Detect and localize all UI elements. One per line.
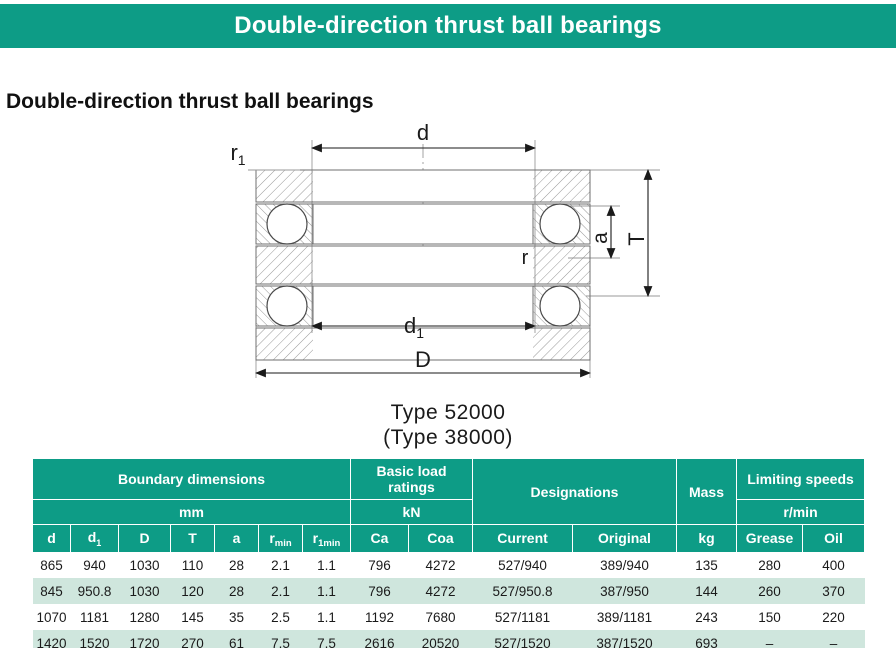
table-cell: 110 bbox=[171, 552, 215, 578]
table-cell: 135 bbox=[677, 552, 737, 578]
group-header-row: Boundary dimensions Basic load ratings D… bbox=[33, 459, 865, 500]
table-cell: 270 bbox=[171, 630, 215, 648]
group-header-limiting-speeds: Limiting speeds bbox=[737, 459, 865, 500]
spec-table-head: Boundary dimensions Basic load ratings D… bbox=[33, 459, 865, 553]
table-cell: 527/1520 bbox=[473, 630, 573, 648]
table-cell: 28 bbox=[215, 578, 259, 604]
spec-table-body: 8659401030110282.11.17964272527/940389/9… bbox=[33, 552, 865, 648]
unit-header-mm: mm bbox=[33, 500, 351, 525]
column-header-current: Current bbox=[473, 525, 573, 553]
column-header-grease: Grease bbox=[737, 525, 803, 553]
table-cell: 4272 bbox=[409, 552, 473, 578]
table-cell: 120 bbox=[171, 578, 215, 604]
table-cell: 1030 bbox=[119, 552, 171, 578]
table-cell: 150 bbox=[737, 604, 803, 630]
group-header-designations: Designations bbox=[473, 459, 677, 525]
table-cell: 260 bbox=[737, 578, 803, 604]
column-header-r-min: rmin bbox=[259, 525, 303, 553]
group-header-mass: Mass bbox=[677, 459, 737, 525]
diagram-caption: Type 52000 (Type 38000) bbox=[0, 400, 896, 450]
table-cell: 2.1 bbox=[259, 578, 303, 604]
table-cell: 389/940 bbox=[573, 552, 677, 578]
table-cell: 387/1520 bbox=[573, 630, 677, 648]
spec-table: Boundary dimensions Basic load ratings D… bbox=[32, 458, 865, 648]
table-cell: 1030 bbox=[119, 578, 171, 604]
label-r1: r1 bbox=[230, 140, 245, 168]
column-header-ca: Ca bbox=[351, 525, 409, 553]
unit-header-row: mm kN r/min bbox=[33, 500, 865, 525]
spec-table-wrapper: Boundary dimensions Basic load ratings D… bbox=[32, 458, 864, 648]
column-header-coa: Coa bbox=[409, 525, 473, 553]
table-cell: 693 bbox=[677, 630, 737, 648]
page-banner: Double-direction thrust ball bearings bbox=[0, 4, 896, 48]
table-cell: 527/1181 bbox=[473, 604, 573, 630]
table-cell: 220 bbox=[803, 604, 865, 630]
label-r: r bbox=[522, 247, 529, 269]
ball-row-lower bbox=[256, 286, 590, 326]
banner-title: Double-direction thrust ball bearings bbox=[234, 12, 661, 40]
bearing-diagram: d d1 D r r1 a T bbox=[0, 118, 896, 418]
table-cell: 845 bbox=[33, 578, 71, 604]
ball-row-upper bbox=[256, 204, 590, 244]
table-cell: 280 bbox=[737, 552, 803, 578]
table-cell: 389/1181 bbox=[573, 604, 677, 630]
column-header-kg: kg bbox=[677, 525, 737, 553]
table-row: 107011811280145352.51.111927680527/11813… bbox=[33, 604, 865, 630]
table-cell: 4272 bbox=[409, 578, 473, 604]
table-cell: 7680 bbox=[409, 604, 473, 630]
table-cell: 796 bbox=[351, 552, 409, 578]
table-cell: 1420 bbox=[33, 630, 71, 648]
column-header-d1: d1 bbox=[71, 525, 119, 553]
table-cell: 527/950.8 bbox=[473, 578, 573, 604]
column-header-d: d bbox=[33, 525, 71, 553]
table-cell: 7.5 bbox=[259, 630, 303, 648]
table-cell: 1520 bbox=[71, 630, 119, 648]
column-header-original: Original bbox=[573, 525, 677, 553]
table-cell: 61 bbox=[215, 630, 259, 648]
washer-centre bbox=[256, 246, 590, 284]
table-cell: 20520 bbox=[409, 630, 473, 648]
section-heading: Double-direction thrust ball bearings bbox=[6, 90, 374, 114]
column-header-r1-min: r1min bbox=[303, 525, 351, 553]
bearing-diagram-svg: d d1 D r r1 a T bbox=[0, 118, 896, 418]
table-cell: 865 bbox=[33, 552, 71, 578]
table-cell: 796 bbox=[351, 578, 409, 604]
table-cell: 145 bbox=[171, 604, 215, 630]
table-cell: 370 bbox=[803, 578, 865, 604]
unit-header-rpm: r/min bbox=[737, 500, 865, 525]
unit-header-kn: kN bbox=[351, 500, 473, 525]
table-cell: 1192 bbox=[351, 604, 409, 630]
table-cell: 28 bbox=[215, 552, 259, 578]
column-header-T: T bbox=[171, 525, 215, 553]
ball-upper-left bbox=[267, 204, 307, 244]
table-cell: 1.1 bbox=[303, 578, 351, 604]
ball-lower-right bbox=[540, 286, 580, 326]
table-cell: 1.1 bbox=[303, 552, 351, 578]
caption-line-1: Type 52000 bbox=[0, 400, 896, 425]
table-row: 845950.81030120282.11.17964272527/950.83… bbox=[33, 578, 865, 604]
caption-line-2: (Type 38000) bbox=[0, 425, 896, 450]
table-cell: 400 bbox=[803, 552, 865, 578]
column-header-D: D bbox=[119, 525, 171, 553]
table-cell: 1181 bbox=[71, 604, 119, 630]
table-cell: 940 bbox=[71, 552, 119, 578]
column-header-oil: Oil bbox=[803, 525, 865, 553]
table-cell: – bbox=[737, 630, 803, 648]
table-cell: 7.5 bbox=[303, 630, 351, 648]
table-cell: – bbox=[803, 630, 865, 648]
table-cell: 1720 bbox=[119, 630, 171, 648]
ball-upper-right bbox=[540, 204, 580, 244]
washer-top-outer bbox=[256, 170, 590, 202]
column-header-row: d d1 D T a rmin r1min Ca Coa Current Ori… bbox=[33, 525, 865, 553]
table-cell: 243 bbox=[677, 604, 737, 630]
table-cell: 2.5 bbox=[259, 604, 303, 630]
column-header-a: a bbox=[215, 525, 259, 553]
table-cell: 2616 bbox=[351, 630, 409, 648]
table-cell: 1.1 bbox=[303, 604, 351, 630]
table-cell: 1280 bbox=[119, 604, 171, 630]
table-cell: 527/940 bbox=[473, 552, 573, 578]
table-cell: 2.1 bbox=[259, 552, 303, 578]
table-cell: 35 bbox=[215, 604, 259, 630]
table-cell: 144 bbox=[677, 578, 737, 604]
table-row: 142015201720270617.57.5261620520527/1520… bbox=[33, 630, 865, 648]
page-root: Double-direction thrust ball bearings Do… bbox=[0, 0, 896, 648]
table-cell: 950.8 bbox=[71, 578, 119, 604]
table-row: 8659401030110282.11.17964272527/940389/9… bbox=[33, 552, 865, 578]
table-cell: 387/950 bbox=[573, 578, 677, 604]
table-cell: 1070 bbox=[33, 604, 71, 630]
label-a: a bbox=[589, 232, 612, 244]
group-header-boundary-dimensions: Boundary dimensions bbox=[33, 459, 351, 500]
label-D: D bbox=[415, 347, 431, 372]
label-d: d bbox=[417, 120, 429, 145]
ball-lower-left bbox=[267, 286, 307, 326]
label-T: T bbox=[624, 232, 649, 245]
group-header-basic-load-ratings: Basic load ratings bbox=[351, 459, 473, 500]
